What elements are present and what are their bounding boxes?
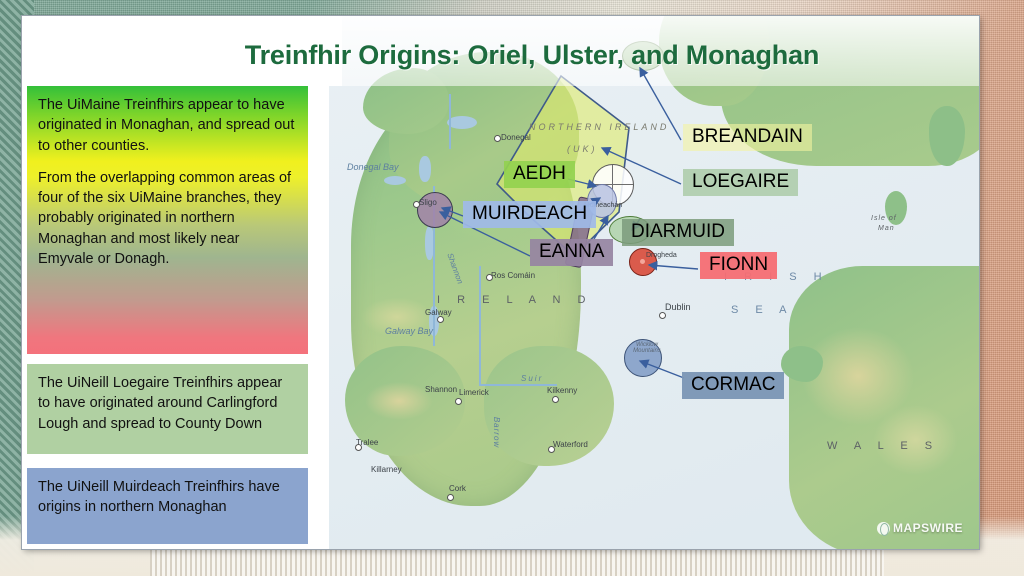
panel-1-paragraph-2: From the overlapping common areas of fou… <box>38 168 297 269</box>
panel-3-paragraph-1: The UiNeill Muirdeach Treinfhirs have or… <box>38 477 297 518</box>
map-city-sligo: Sligo <box>419 198 437 207</box>
map-label-northern-ireland: NORTHERN IRELAND <box>529 122 669 132</box>
river-bann <box>449 94 451 149</box>
globe-icon <box>877 522 890 535</box>
map-name-label-diarmuid[interactable]: DIARMUID <box>622 219 734 246</box>
map-dot-tralee <box>355 444 362 451</box>
map-label-ireland: I R E L A N D <box>437 294 592 306</box>
map-label-man: Man <box>878 225 895 232</box>
map-city-kilkenny: Kilkenny <box>547 386 577 395</box>
map-city-shannon: Shannon <box>425 385 457 394</box>
map-city-killarney: Killarney <box>371 465 402 474</box>
map-city-drogheda: Drogheda <box>646 252 677 259</box>
map-city-limerick: Limerick <box>459 388 489 397</box>
landmass-anglesey <box>781 346 823 382</box>
presentation-slide: NORTHERN IRELAND (UK) I R E L A N D I R … <box>22 16 979 549</box>
map-dot-waterford <box>548 446 555 453</box>
map-dot-dublin <box>659 312 666 319</box>
lake-lough-neagh <box>447 116 477 129</box>
map-water-barrow: Barrow <box>492 417 501 448</box>
map-dot-ros-comain <box>486 274 493 281</box>
screenshot-root: NORTHERN IRELAND (UK) I R E L A N D I R … <box>0 0 1024 576</box>
map-city-cork: Cork <box>449 484 466 493</box>
map-city-ros-comain: Ros Comáin <box>491 271 535 280</box>
map-name-label-breandain[interactable]: BREANDAIN <box>683 124 812 151</box>
info-panel-uineill-loegaire: The UiNeill Loegaire Treinfhirs appear t… <box>27 364 308 454</box>
map-label-sea: S E A <box>731 304 794 316</box>
map-name-label-loegaire[interactable]: LOEGAIRE <box>683 169 798 196</box>
map-dot-galway <box>437 316 444 323</box>
map-dot-limerick <box>455 398 462 405</box>
map-city-donegal: Donegal <box>501 133 531 142</box>
map-city-dublin: Dublin <box>665 302 691 312</box>
map-label-isle-of: Isle of <box>871 215 897 222</box>
landmass-wales <box>789 266 979 549</box>
map-water-wicklow-mountains: Wicklow Mountains <box>623 342 671 354</box>
map-name-label-muirdeach[interactable]: MUIRDEACH <box>463 201 596 228</box>
map-name-label-eanna[interactable]: EANNA <box>530 239 613 266</box>
lake-lough-conn <box>384 176 406 185</box>
map-name-label-cormac[interactable]: CORMAC <box>682 372 784 399</box>
map-name-label-aedh[interactable]: AEDH <box>504 161 575 188</box>
page-title: Treinfhir Origins: Oriel, Ulster, and Mo… <box>182 40 882 71</box>
map-dot-donegal <box>494 135 501 142</box>
map-city-waterford: Waterford <box>553 440 588 449</box>
map-water-galway-bay: Galway Bay <box>385 326 433 336</box>
map-dot-cork <box>447 494 454 501</box>
map-dot-kilkenny <box>552 396 559 403</box>
map-label-uk: (UK) <box>567 144 598 154</box>
mapswire-watermark: MAPSWIRE <box>877 521 963 535</box>
map-dot-sligo <box>413 201 420 208</box>
info-panel-uineill-muirdeach: The UiNeill Muirdeach Treinfhirs have or… <box>27 468 308 544</box>
map-water-donegal-bay: Donegal Bay <box>347 162 399 172</box>
panel-1-paragraph-1: The UiMaine Treinfhirs appear to have or… <box>38 95 297 156</box>
river-barrow <box>479 266 481 386</box>
river-suir <box>479 384 557 386</box>
ireland-map: NORTHERN IRELAND (UK) I R E L A N D I R … <box>329 16 979 549</box>
map-name-label-fionn[interactable]: FIONN <box>700 252 777 279</box>
info-panel-uimaine-origin: The UiMaine Treinfhirs appear to have or… <box>27 86 308 354</box>
map-water-suir: Suir <box>521 374 543 383</box>
map-label-wales: W A L E S <box>827 440 939 452</box>
watermark-text: MAPSWIRE <box>893 521 963 535</box>
panel-2-paragraph-1: The UiNeill Loegaire Treinfhirs appear t… <box>38 373 297 434</box>
lake-lough-erne <box>419 156 431 182</box>
